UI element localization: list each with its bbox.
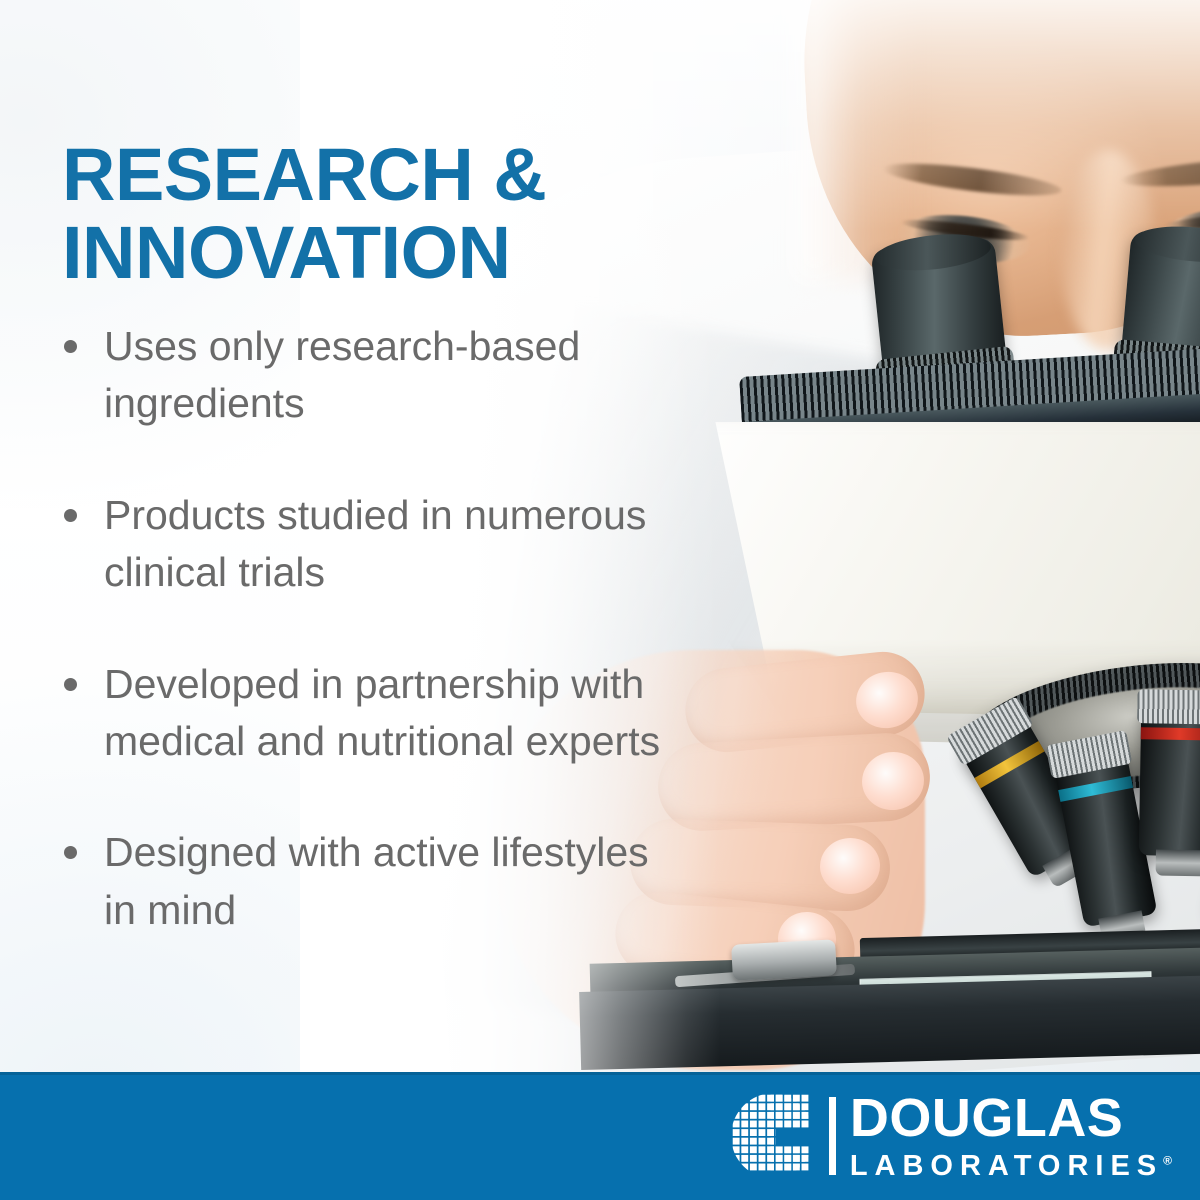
headline-line-1: RESEARCH & <box>62 133 546 216</box>
list-item: Developed in partnership with medical an… <box>58 656 676 771</box>
objective-color-band-blue <box>1058 776 1133 802</box>
footer-bar: DOUGLAS LABORATORIES® <box>0 1072 1200 1200</box>
list-item: Designed with active lifestyles in mind <box>58 824 676 939</box>
list-item-label: Developed in partnership with medical an… <box>104 661 660 764</box>
headline-line-2: INNOVATION <box>62 211 511 294</box>
page-title: RESEARCH & INNOVATION <box>62 136 682 293</box>
bullet-dot-icon <box>64 678 77 691</box>
logo-primary-text: DOUGLAS <box>850 1091 1172 1145</box>
marketing-graphic: RESEARCH & INNOVATION Uses only research… <box>0 0 1200 1200</box>
objective-collar <box>1137 689 1200 725</box>
footer-top-edge <box>0 1072 1200 1075</box>
slide-clip <box>731 939 837 980</box>
list-item: Products studied in numerous clinical tr… <box>58 487 676 602</box>
objective-color-band-red <box>1141 727 1200 740</box>
bullet-dot-icon <box>64 340 77 353</box>
list-item-label: Products studied in numerous clinical tr… <box>104 492 646 595</box>
logo-secondary-text: LABORATORIES® <box>850 1152 1172 1181</box>
registered-mark-icon: ® <box>1163 1153 1172 1167</box>
logo-secondary-label: LABORATORIES <box>850 1150 1163 1182</box>
benefits-list: Uses only research-based ingredients Pro… <box>58 318 676 939</box>
bullet-dot-icon <box>64 509 77 522</box>
douglas-laboratories-logo[interactable]: DOUGLAS LABORATORIES® <box>731 1091 1172 1181</box>
objective-tip <box>1156 850 1200 877</box>
list-item-label: Designed with active lifestyles in mind <box>104 829 649 932</box>
bullet-dot-icon <box>64 846 77 859</box>
list-item-label: Uses only research-based ingredients <box>104 323 580 426</box>
objective-lens-red <box>1139 705 1200 856</box>
list-item: Uses only research-based ingredients <box>58 318 676 433</box>
logo-divider <box>829 1097 836 1175</box>
douglas-grid-globe-icon <box>731 1093 817 1179</box>
logo-wordmark: DOUGLAS LABORATORIES® <box>850 1091 1172 1181</box>
